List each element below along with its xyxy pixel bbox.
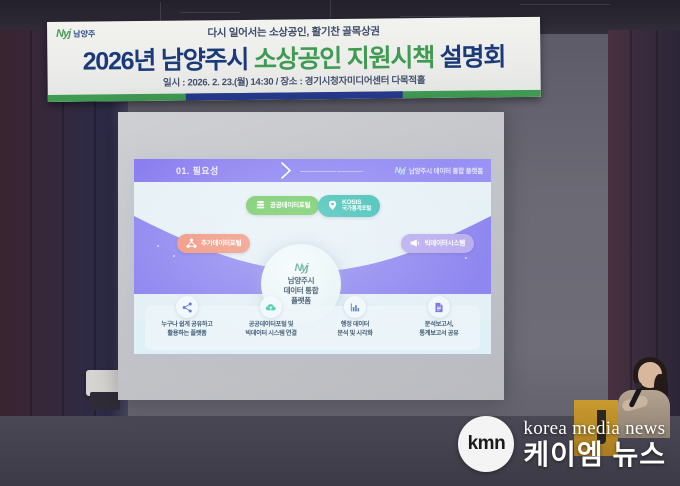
chair-shadow <box>90 392 120 410</box>
pill-label-3: 빅데이터시스템 <box>425 240 465 247</box>
database-icon <box>255 200 266 211</box>
slide-header: 01. 필요성 Nyj 남양주시 데이터 통합 플랫폼 <box>134 159 491 182</box>
pill-public-data-portal[interactable]: 공공데이터포털 <box>246 196 319 215</box>
center-line-2: 데이터 통합 <box>284 286 319 296</box>
cloud-upload-icon <box>260 296 282 318</box>
pill-label-0: 공공데이터포털 <box>270 202 310 209</box>
banner-title-part2: 소상공인 지원시책 <box>254 44 440 74</box>
center-text: 남양주시 데이터 통합 플랫폼 <box>284 276 319 306</box>
namyangju-slide-logo: Nyj <box>395 166 405 175</box>
feature-line2-0: 활용하는 플랫폼 <box>145 330 229 339</box>
photo-scene: Nyj 남양주 다시 일어서는 소상공인, 활기찬 골목상권 2026년 남양주… <box>0 0 680 486</box>
feature-item-2: 행정 데이터 분석 및 시각화 <box>313 306 397 339</box>
presentation-slide: 01. 필요성 Nyj 남양주시 데이터 통합 플랫폼 <box>134 159 491 354</box>
slide-brand-text: 남양주시 데이터 통합 플랫폼 <box>409 165 483 175</box>
feature-item-1: 공공데이터포털 및 빅데이터 시스템 연결 <box>229 306 313 339</box>
feature-line1-0: 누구나 쉽게 공유하고 <box>145 321 229 330</box>
network-share-icon <box>186 238 197 249</box>
feature-line2-2: 분석 및 시각화 <box>313 330 397 339</box>
feature-bar: 누구나 쉽게 공유하고 활용하는 플랫폼 공공데이터포털 및 <box>145 306 480 350</box>
center-line-3: 플랫폼 <box>284 296 319 306</box>
feature-item-3: 분석보고서, 통계보고서 공유 <box>397 306 481 339</box>
pill-label-2: 추가데이터포털 <box>201 240 241 247</box>
feature-line1-3: 분석보고서, <box>397 321 481 330</box>
slide-body: 공공데이터포털 KOSIS국가통계포털 <box>134 182 491 354</box>
center-line-1: 남양주시 <box>284 276 319 286</box>
feature-line1-1: 공공데이터포털 및 <box>229 321 313 330</box>
feature-line2-1: 빅데이터 시스템 연결 <box>229 330 313 339</box>
banner-title-part1: 2026년 남양주시 <box>82 46 254 76</box>
watermark: kmn korea media news 케이엠 뉴스 <box>458 416 666 472</box>
kmn-logo-text: kmn <box>468 433 506 455</box>
watermark-korean: 케이엠 뉴스 <box>523 441 666 469</box>
pill-bigdata-system[interactable]: 빅데이터시스템 <box>401 234 474 253</box>
feature-line2-3: 통계보고서 공유 <box>397 330 481 339</box>
center-logo: Nyj <box>295 262 308 274</box>
projection-screen: 01. 필요성 Nyj 남양주시 데이터 통합 플랫폼 <box>118 112 504 400</box>
slide-brand: Nyj 남양주시 데이터 통합 플랫폼 <box>395 165 483 175</box>
event-banner: Nyj 남양주 다시 일어서는 소상공인, 활기찬 골목상권 2026년 남양주… <box>47 17 541 102</box>
feature-item-0: 누구나 쉽게 공유하고 활용하는 플랫폼 <box>145 306 229 339</box>
banner-title-part3: 설명회 <box>440 43 506 72</box>
feature-line1-2: 행정 데이터 <box>313 321 397 330</box>
slide-section-title: 01. 필요성 <box>176 164 219 177</box>
chart-icon <box>344 296 366 318</box>
location-pin-icon <box>327 200 338 211</box>
share-icon <box>176 296 198 318</box>
kmn-logo-icon: kmn <box>458 416 514 472</box>
pill-kosis[interactable]: KOSIS국가통계포털 <box>318 195 380 217</box>
microphone-head <box>635 382 642 389</box>
document-icon <box>428 296 450 318</box>
watermark-english: korea media news <box>523 419 666 438</box>
chevron-right-icon <box>280 162 292 179</box>
pill-extra-data-portal[interactable]: 추가데이터포털 <box>177 234 250 253</box>
pill-label-1: KOSIS국가통계포털 <box>342 199 371 213</box>
megaphone-icon <box>410 238 421 249</box>
